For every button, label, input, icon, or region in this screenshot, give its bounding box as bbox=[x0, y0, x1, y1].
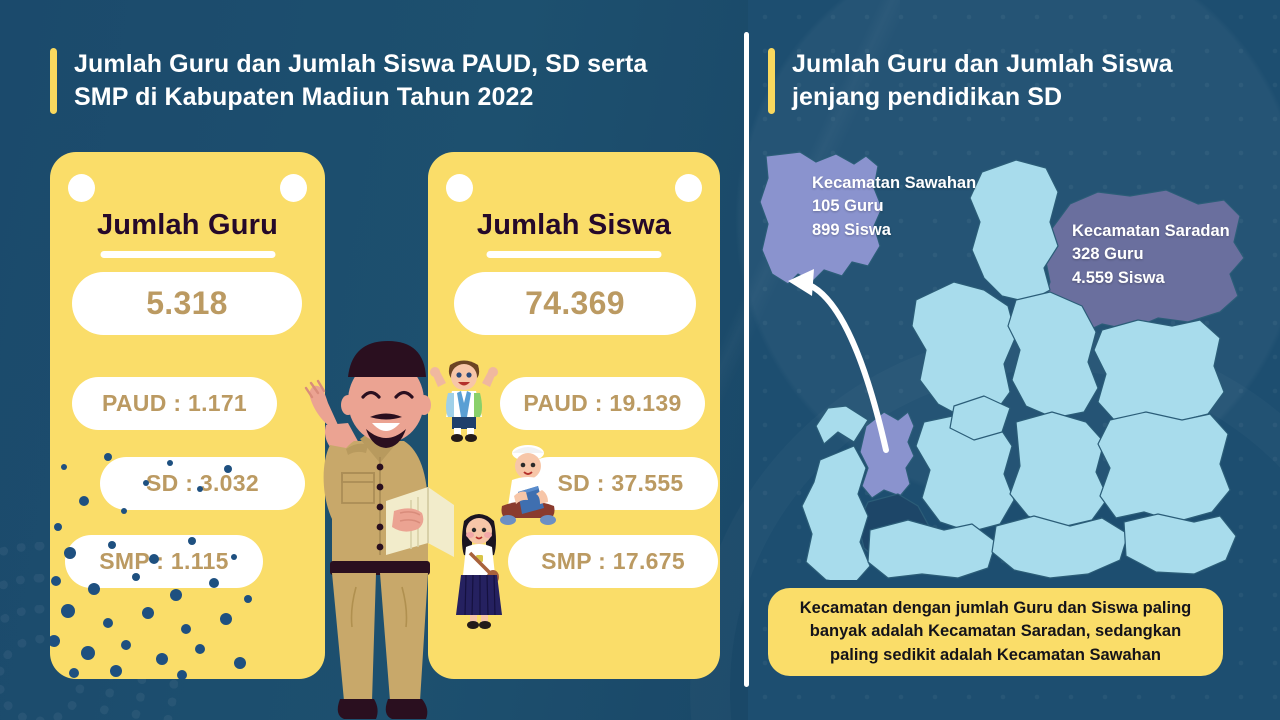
card-punch-hole-left-icon bbox=[446, 174, 473, 202]
student-smp-illustration bbox=[448, 505, 510, 630]
map-label-sawahan: Kecamatan Sawahan 105 Guru 899 Siswa bbox=[812, 172, 976, 242]
right-section-title: Jumlah Guru dan Jumlah Siswa jenjang pen… bbox=[768, 48, 1238, 114]
card-siswa-total-value: 74.369 bbox=[454, 272, 696, 335]
title-accent-bar bbox=[768, 48, 775, 114]
card-siswa-row-paud: PAUD : 19.139 bbox=[500, 377, 705, 430]
card-punch-hole-left-icon bbox=[68, 174, 95, 202]
card-guru-title: Jumlah Guru bbox=[50, 209, 325, 242]
student-paud-illustration bbox=[430, 357, 498, 442]
map-label-saradan: Kecamatan Saradan 328 Guru 4.559 Siswa bbox=[1072, 220, 1230, 290]
card-siswa-row-smp: SMP : 17.675 bbox=[508, 535, 718, 588]
summary-callout-text: Kecamatan dengan jumlah Guru dan Siswa p… bbox=[800, 597, 1192, 667]
card-punch-hole-right-icon bbox=[280, 174, 307, 202]
title-accent-bar bbox=[50, 48, 57, 114]
summary-callout: Kecamatan dengan jumlah Guru dan Siswa p… bbox=[768, 588, 1223, 676]
card-guru-row-smp: SMP : 1.115 bbox=[65, 535, 263, 588]
card-siswa-underline bbox=[487, 251, 662, 258]
left-section-title: Jumlah Guru dan Jumlah Siswa PAUD, SD se… bbox=[50, 48, 710, 114]
card-punch-hole-right-icon bbox=[675, 174, 702, 202]
card-guru-underline bbox=[100, 251, 275, 258]
left-title-text: Jumlah Guru dan Jumlah Siswa PAUD, SD se… bbox=[74, 48, 647, 114]
card-guru-row-paud: PAUD : 1.171 bbox=[72, 377, 277, 430]
card-siswa-title: Jumlah Siswa bbox=[428, 209, 720, 242]
right-title-text: Jumlah Guru dan Jumlah Siswa jenjang pen… bbox=[792, 48, 1173, 114]
vertical-divider bbox=[744, 32, 749, 687]
